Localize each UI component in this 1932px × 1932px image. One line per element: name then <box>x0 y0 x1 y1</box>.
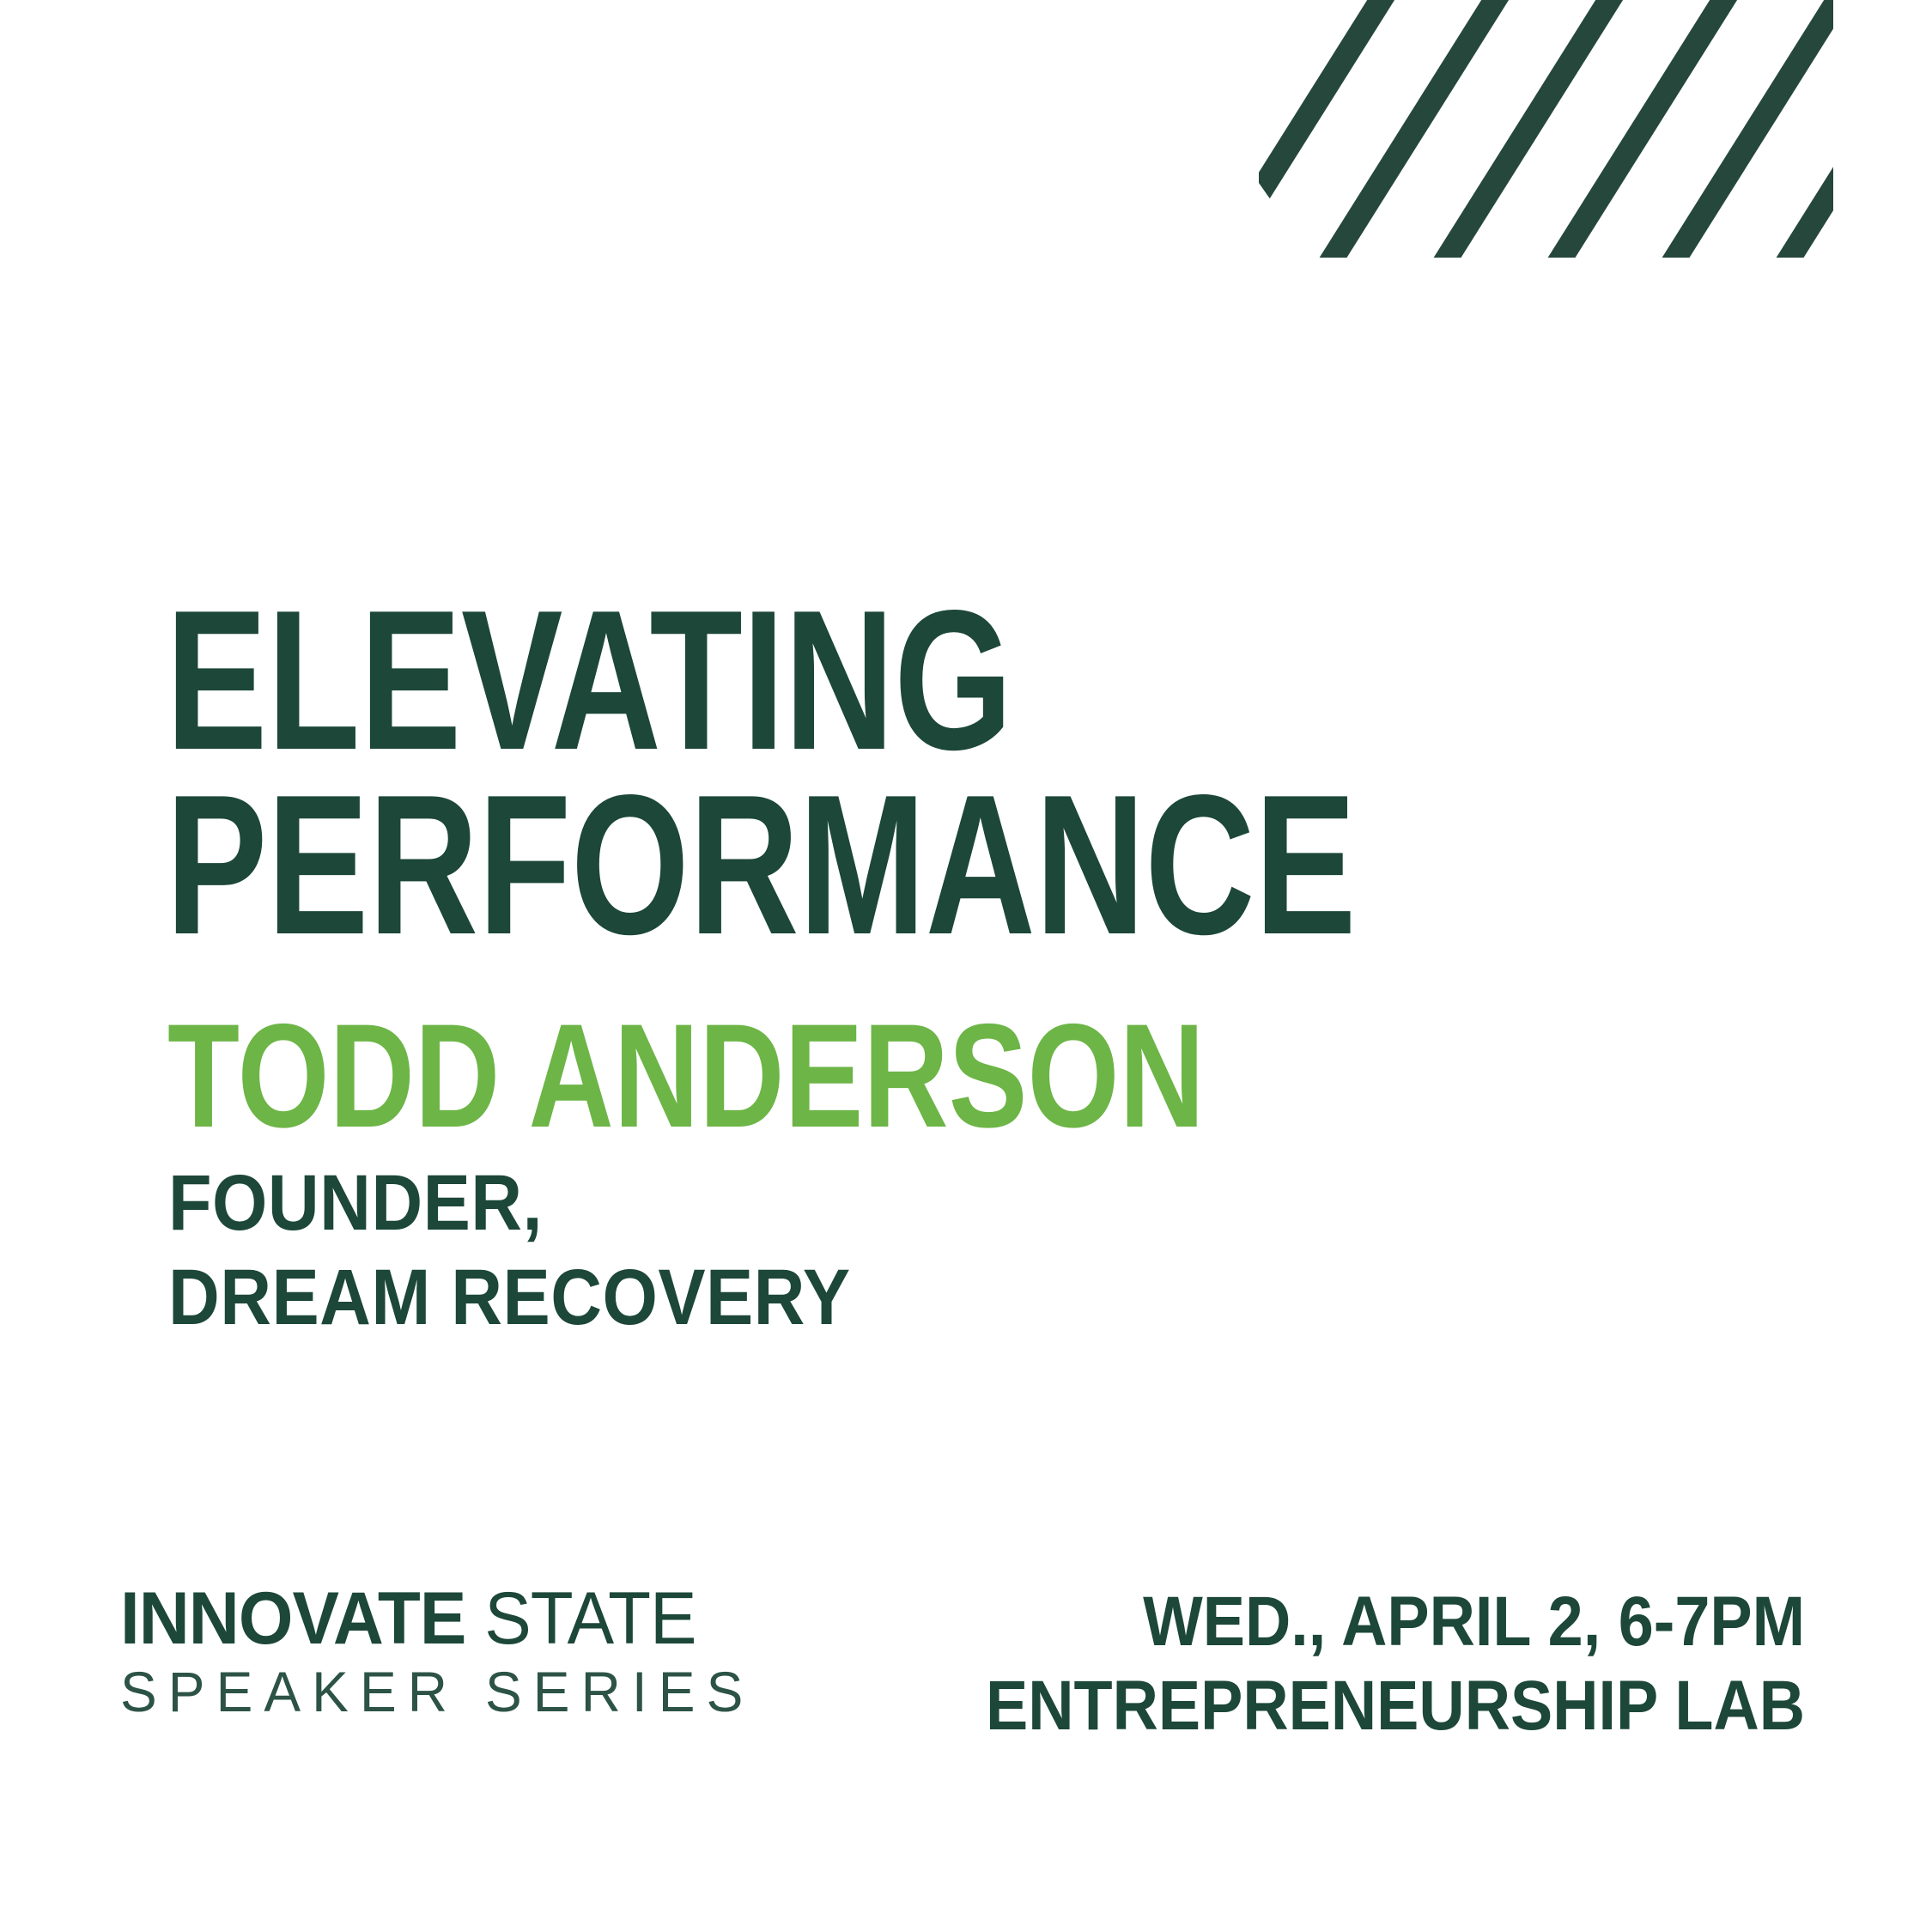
diagonal-stripes-icon <box>1232 0 1833 275</box>
speaker-name: TODD ANDERSON <box>167 1008 1205 1145</box>
brand-subtitle: SPEAKER SERIES <box>120 1663 787 1720</box>
speaker-role-line-2: DREAM RECOVERY <box>168 1250 851 1345</box>
brand-title-light: STATE <box>484 1577 696 1660</box>
page-title: ELEVATING PERFORMANCE <box>166 589 1625 957</box>
speaker-role: FOUNDER, DREAM RECOVERY <box>168 1156 851 1346</box>
brand-title-strong: INNOVATE <box>120 1577 465 1660</box>
event-datetime: WED., APRIL 2, 6-7PM <box>986 1580 1805 1664</box>
event-poster: ELEVATING PERFORMANCE TODD ANDERSON FOUN… <box>0 0 1932 1932</box>
event-location: ENTREPRENEURSHIP LAB <box>986 1664 1805 1748</box>
headline-line-1: ELEVATING <box>166 589 1283 774</box>
brand-title: INNOVATE STATE <box>120 1583 773 1655</box>
brand-lockup: INNOVATE STATE SPEAKER SERIES <box>120 1583 807 1720</box>
headline-line-2: PERFORMANCE <box>166 774 1283 958</box>
event-details: WED., APRIL 2, 6-7PM ENTREPRENEURSHIP LA… <box>895 1580 1805 1749</box>
speaker-role-line-1: FOUNDER, <box>168 1156 851 1250</box>
